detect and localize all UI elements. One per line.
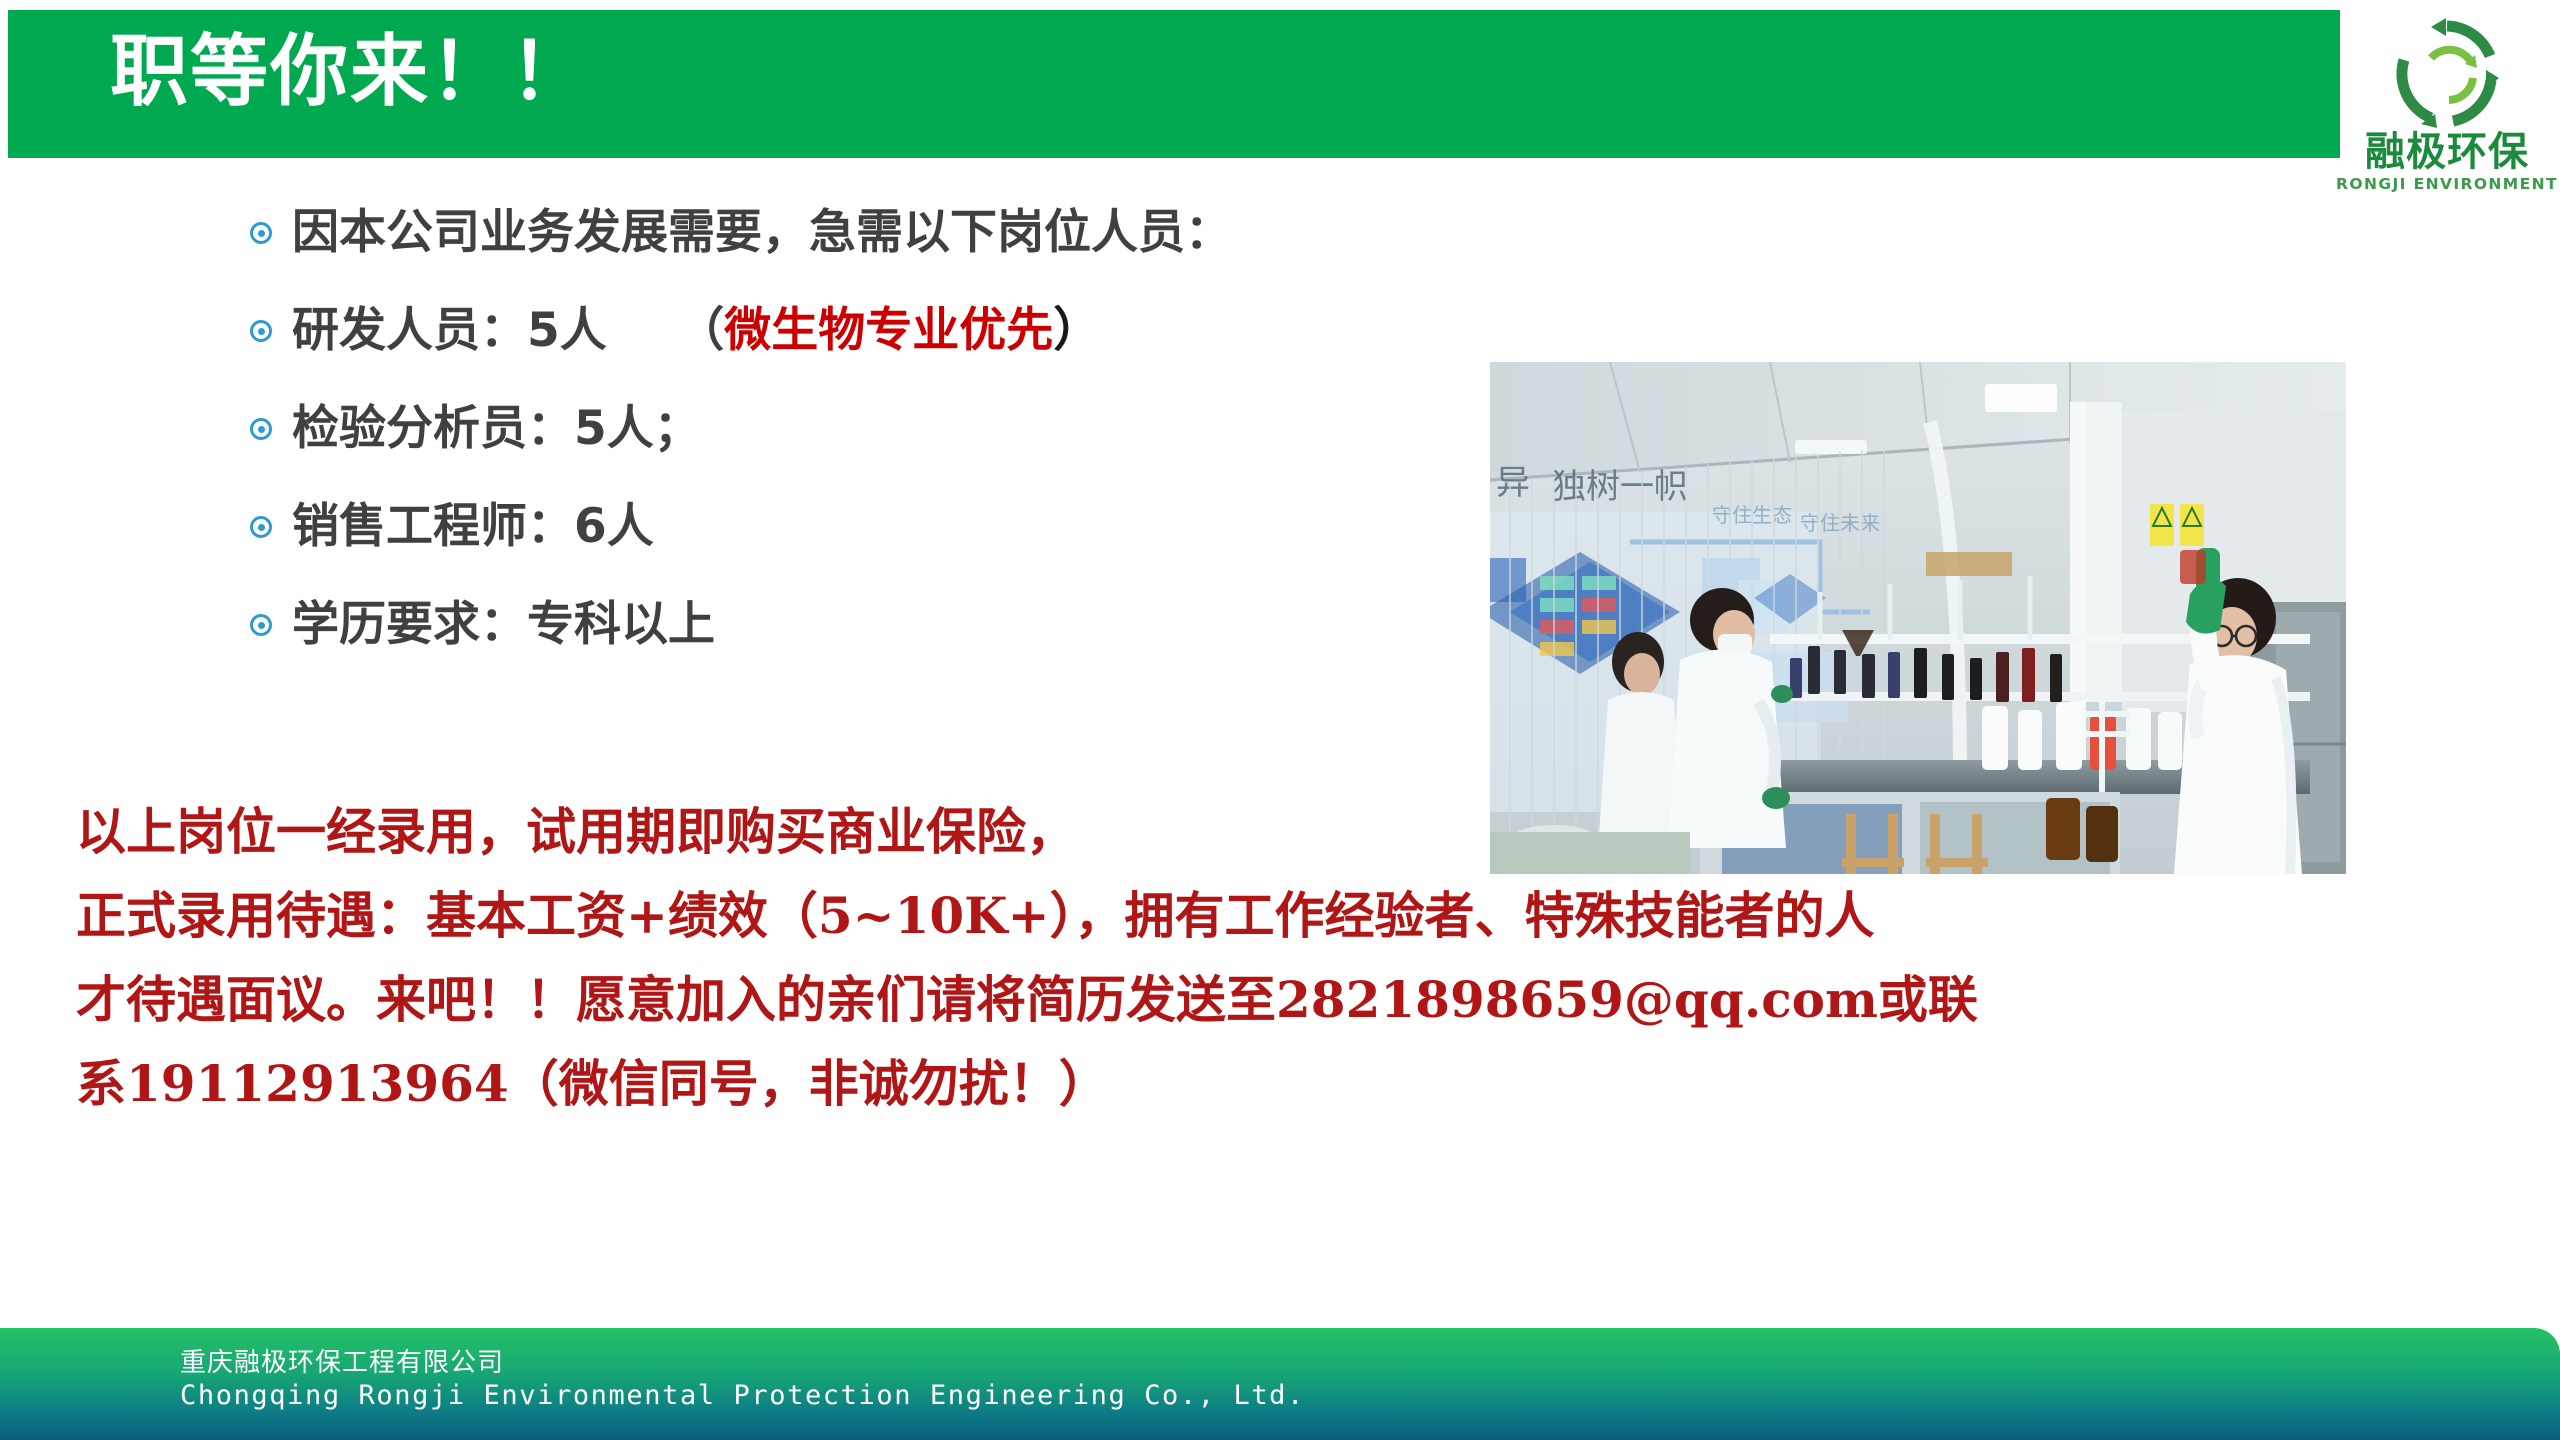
svg-text:异: 异 — [1496, 463, 1530, 503]
bullet-label-1-highlight: 微生物专业优先 — [724, 303, 1053, 358]
footer-company-cn: 重庆融极环保工程有限公司 — [180, 1342, 504, 1379]
job-bullet-list: 因本公司业务发展需要，急需以下岗位人员： 研发人员：5人 （微生物专业优先） 检… — [250, 196, 1500, 662]
red-line-0: 以上岗位一经录用，试用期即购买商业保险， — [76, 790, 2516, 874]
slide-root: 职等你来！！ 融极环保 RONGJI ENVIRONMENT — [0, 0, 2560, 1440]
company-logo: 融极环保 RONGJI ENVIRONMENT — [2340, 6, 2554, 218]
bullet-dot-icon — [250, 418, 292, 440]
bullet-label-4: 学历要求：专科以上 — [292, 595, 715, 655]
bullet-dot-icon — [250, 320, 292, 342]
footer-company-en: Chongqing Rongji Environmental Protectio… — [180, 1380, 1305, 1411]
recruitment-details-paragraph: 以上岗位一经录用，试用期即购买商业保险， 正式录用待遇：基本工资+绩效（5~10… — [76, 790, 2516, 1126]
list-item: 因本公司业务发展需要，急需以下岗位人员： — [250, 196, 1500, 270]
list-item: 检验分析员：5人； — [250, 392, 1500, 466]
bullet-label-1: 研发人员：5人 （微生物专业优先） — [292, 301, 1100, 361]
red-line-1: 正式录用待遇：基本工资+绩效（5~10K+），拥有工作经验者、特殊技能者的人 — [76, 874, 2516, 958]
logo-name-en: RONGJI ENVIRONMENT — [2336, 175, 2558, 193]
bullet-dot-icon — [250, 614, 292, 636]
red-line-3: 系19112913964（微信同号，非诚勿扰！） — [76, 1042, 2516, 1126]
bullet-label-3: 销售工程师：6人 — [292, 497, 654, 557]
footer-bar: 重庆融极环保工程有限公司 Chongqing Rongji Environmen… — [0, 1328, 2560, 1440]
recycle-circle-icon — [2387, 14, 2507, 134]
bullet-dot-icon — [250, 222, 292, 244]
logo-name-cn: 融极环保 — [2365, 130, 2529, 174]
red-line-2: 才待遇面议。来吧！！愿意加入的亲们请将简历发送至2821898659@qq.co… — [76, 958, 2516, 1042]
bullet-label-0: 因本公司业务发展需要，急需以下岗位人员： — [292, 203, 1232, 263]
list-item: 销售工程师：6人 — [250, 490, 1500, 564]
list-item: 学历要求：专科以上 — [250, 588, 1500, 662]
bullet-label-2: 检验分析员：5人； — [292, 399, 701, 459]
bullet-label-1-tail: ） — [1053, 303, 1100, 358]
page-title: 职等你来！！ — [110, 16, 590, 128]
bullet-dot-icon — [250, 516, 292, 538]
list-item: 研发人员：5人 （微生物专业优先） — [250, 294, 1500, 368]
bullet-label-1-main: 研发人员：5人 （ — [292, 303, 724, 358]
